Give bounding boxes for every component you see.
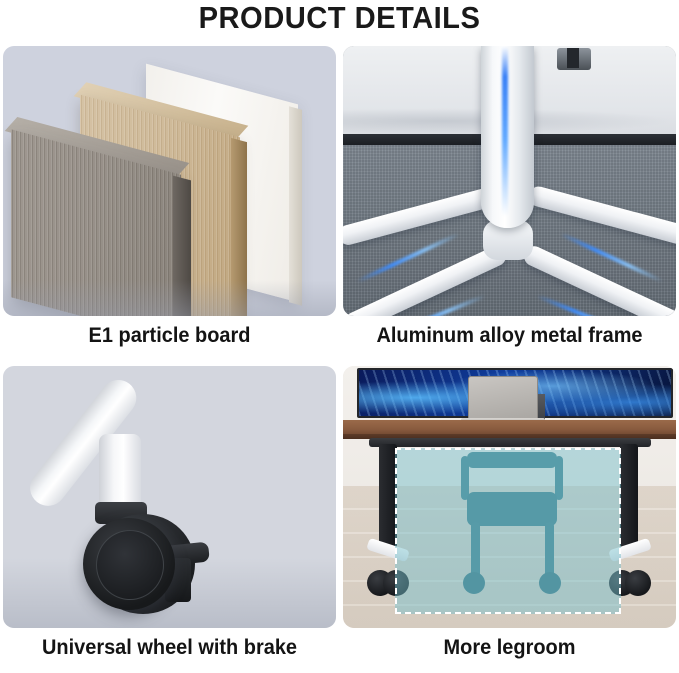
caption-particle-board: E1 particle board [11,324,327,348]
detail-cell-particle-board: E1 particle board [3,46,336,358]
frame-leg-highlight [502,46,508,216]
desk-leg-right [620,444,638,548]
universal-wheel-image [3,366,336,628]
caption-legroom: More legroom [351,636,667,660]
board-shadow [3,280,336,316]
particle-board-image [3,46,336,316]
laptop [468,376,538,422]
caster-front-wheel-hub [96,530,164,600]
legroom-highlight-area [395,448,621,614]
legroom-image [343,366,676,628]
caption-metal-frame: Aluminum alloy metal frame [351,324,667,348]
page-title: PRODUCT DETAILS [20,0,658,44]
desk-underframe [369,438,651,447]
board-sample-white-edge [289,106,302,305]
details-grid: E1 particle board Aluminum alloy metal f… [0,44,679,673]
frame-clip-inner [567,48,579,68]
desk-caster-right-b [625,570,651,596]
detail-cell-metal-frame: Aluminum alloy metal frame [343,46,676,358]
detail-cell-universal-wheel: Universal wheel with brake [3,366,336,672]
caption-universal-wheel: Universal wheel with brake [11,636,327,660]
desk-leg-lower [99,434,141,512]
metal-frame-image [343,46,676,316]
detail-cell-legroom: More legroom [343,366,676,672]
